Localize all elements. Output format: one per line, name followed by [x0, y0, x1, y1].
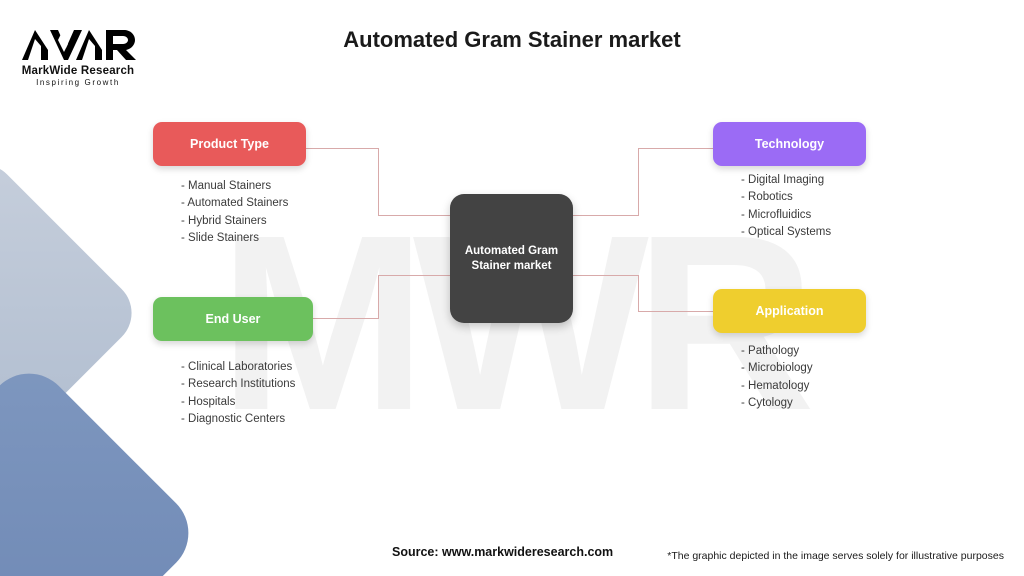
center-node: Automated Gram Stainer market: [450, 194, 573, 323]
segment-end-user-header[interactable]: End User: [153, 297, 313, 341]
connector-end-user-h2: [378, 275, 451, 276]
page-title: Automated Gram Stainer market: [0, 27, 1024, 53]
list-item: - Robotics: [741, 189, 831, 206]
list-item: - Manual Stainers: [181, 178, 288, 195]
segment-end-user-items: - Clinical Laboratories - Research Insti…: [181, 359, 295, 429]
connector-application-h1: [638, 311, 714, 312]
source-label: Source: www.markwideresearch.com: [392, 545, 613, 559]
list-item: - Hospitals: [181, 394, 295, 411]
connector-application-v: [638, 275, 639, 312]
infographic-canvas: MWR MarkWide Research Inspiring Growth A…: [0, 0, 1024, 576]
connector-product-type-h2: [378, 215, 451, 216]
list-item: - Cytology: [741, 395, 813, 412]
list-item: - Microbiology: [741, 360, 813, 377]
segment-product-type-header[interactable]: Product Type: [153, 122, 306, 166]
brand-name: MarkWide Research: [18, 65, 138, 77]
list-item: - Microfluidics: [741, 207, 831, 224]
list-item: - Clinical Laboratories: [181, 359, 295, 376]
segment-product-type-items: - Manual Stainers - Automated Stainers -…: [181, 178, 288, 248]
connector-application-h2: [572, 275, 639, 276]
connector-technology-v: [638, 148, 639, 216]
list-item: - Slide Stainers: [181, 230, 288, 247]
connector-product-type-v: [378, 148, 379, 216]
connector-end-user-h1: [312, 318, 379, 319]
list-item: - Optical Systems: [741, 224, 831, 241]
list-item: - Research Institutions: [181, 376, 295, 393]
list-item: - Hematology: [741, 378, 813, 395]
list-item: - Hybrid Stainers: [181, 213, 288, 230]
connector-technology-h2: [572, 215, 639, 216]
segment-technology-header[interactable]: Technology: [713, 122, 866, 166]
connector-product-type-h1: [306, 148, 379, 149]
brand-tagline: Inspiring Growth: [18, 78, 138, 87]
segment-application-items: - Pathology - Microbiology - Hematology …: [741, 343, 813, 413]
list-item: - Pathology: [741, 343, 813, 360]
connector-end-user-v: [378, 275, 379, 319]
list-item: - Automated Stainers: [181, 195, 288, 212]
connector-technology-h1: [638, 148, 714, 149]
segment-application-header[interactable]: Application: [713, 289, 866, 333]
list-item: - Diagnostic Centers: [181, 411, 295, 428]
disclaimer-note: *The graphic depicted in the image serve…: [667, 550, 1004, 562]
segment-technology-items: - Digital Imaging - Robotics - Microflui…: [741, 172, 831, 242]
list-item: - Digital Imaging: [741, 172, 831, 189]
